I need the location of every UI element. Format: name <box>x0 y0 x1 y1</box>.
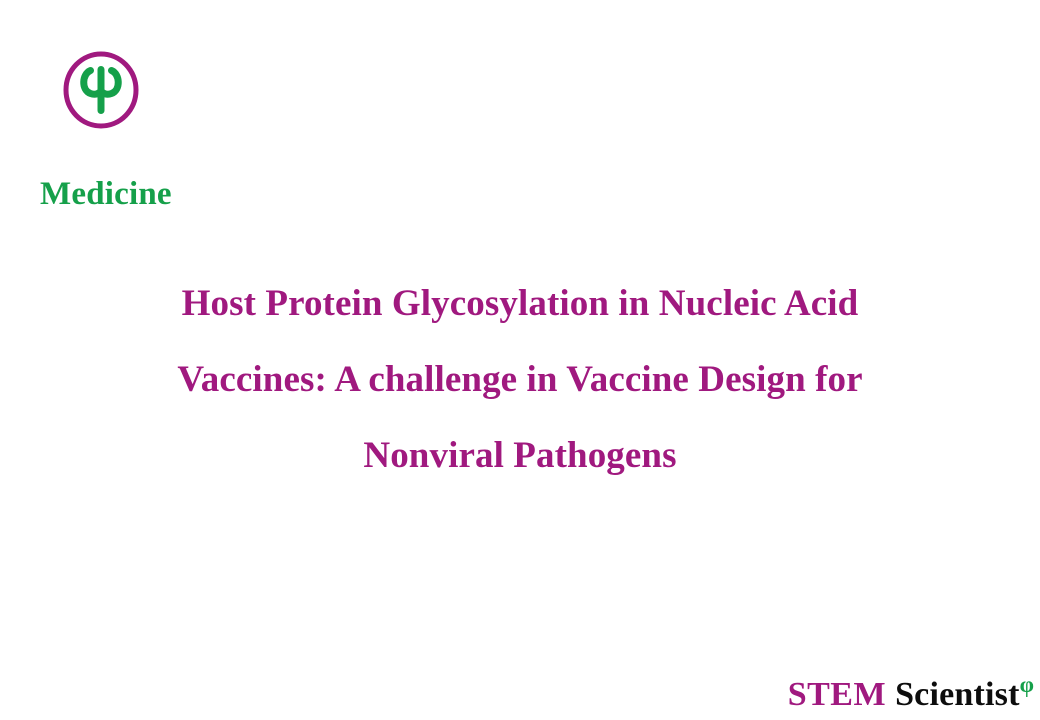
slide-canvas: Medicine Host Protein Glycosylation in N… <box>0 0 1040 720</box>
wordmark-phi-icon: φ <box>1020 673 1034 696</box>
wordmark-stem: STEM <box>788 678 886 712</box>
title-line-1: Host Protein Glycosylation in Nucleic Ac… <box>70 266 970 342</box>
footer-wordmark: STEM Scientist φ <box>788 678 1034 712</box>
category-label: Medicine <box>40 176 172 214</box>
page-title: Host Protein Glycosylation in Nucleic Ac… <box>70 266 970 494</box>
phi-circle-logo <box>62 50 140 130</box>
logo-phi-glyph <box>84 70 119 111</box>
title-line-2: Vaccines: A challenge in Vaccine Design … <box>70 342 970 418</box>
title-line-3: Nonviral Pathogens <box>70 418 970 494</box>
wordmark-scientist: Scientist <box>895 678 1020 712</box>
